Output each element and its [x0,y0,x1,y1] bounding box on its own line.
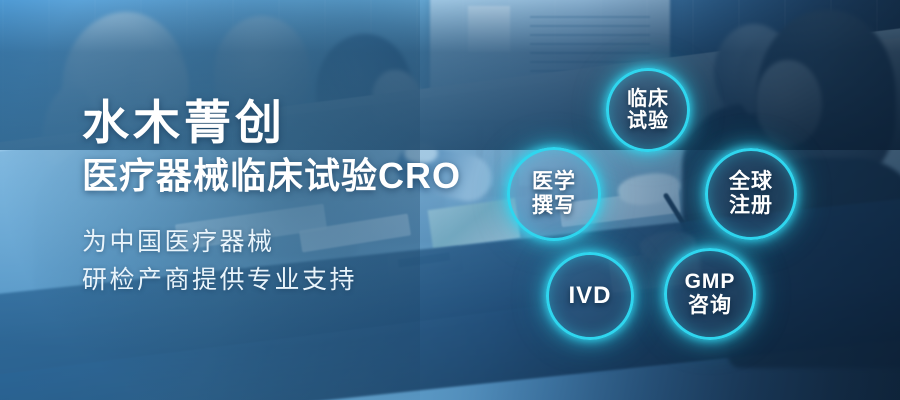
service-badge-label: 医学 撰写 [532,170,576,217]
service-badge-label-line1: 全球 [729,170,773,193]
service-badge-label-line1: GMP [685,270,736,293]
service-badge-label: 全球 注册 [729,170,773,217]
hero-banner: 水木菁创 医疗器械临床试验CRO 为中国医疗器械 研检产商提供专业支持 临床 试… [0,0,900,400]
service-badge-label-line2: 注册 [729,194,773,217]
page-title: 医疗器械临床试验CRO [82,157,461,195]
service-badge-global-registration[interactable]: 全球 注册 [705,148,797,240]
service-badge-label: IVD [568,283,611,310]
service-badge-clinical-trial[interactable]: 临床 试验 [606,68,690,152]
service-badge-label-line1: 临床 [627,88,669,110]
service-badge-label-line1: IVD [568,282,611,309]
subtitle-line-1: 为中国医疗器械 [82,223,461,261]
brand-name: 水木菁创 [82,98,461,148]
service-badge-label-line2: 试验 [627,110,669,132]
service-badge-label-line1: 医学 [532,170,576,193]
service-badge-gmp-consulting[interactable]: GMP 咨询 [664,248,756,340]
headline-block: 水木菁创 医疗器械临床试验CRO 为中国医疗器械 研检产商提供专业支持 [82,98,461,299]
service-badge-label: 临床 试验 [627,88,669,133]
subtitle-line-2: 研检产商提供专业支持 [82,261,461,299]
service-badge-label-line2: 咨询 [688,294,732,317]
service-badge-ivd[interactable]: IVD [546,252,634,340]
service-badge-label: GMP 咨询 [685,270,736,317]
service-badge-medical-writing[interactable]: 医学 撰写 [507,147,601,241]
service-badge-label-line2: 撰写 [532,194,576,217]
